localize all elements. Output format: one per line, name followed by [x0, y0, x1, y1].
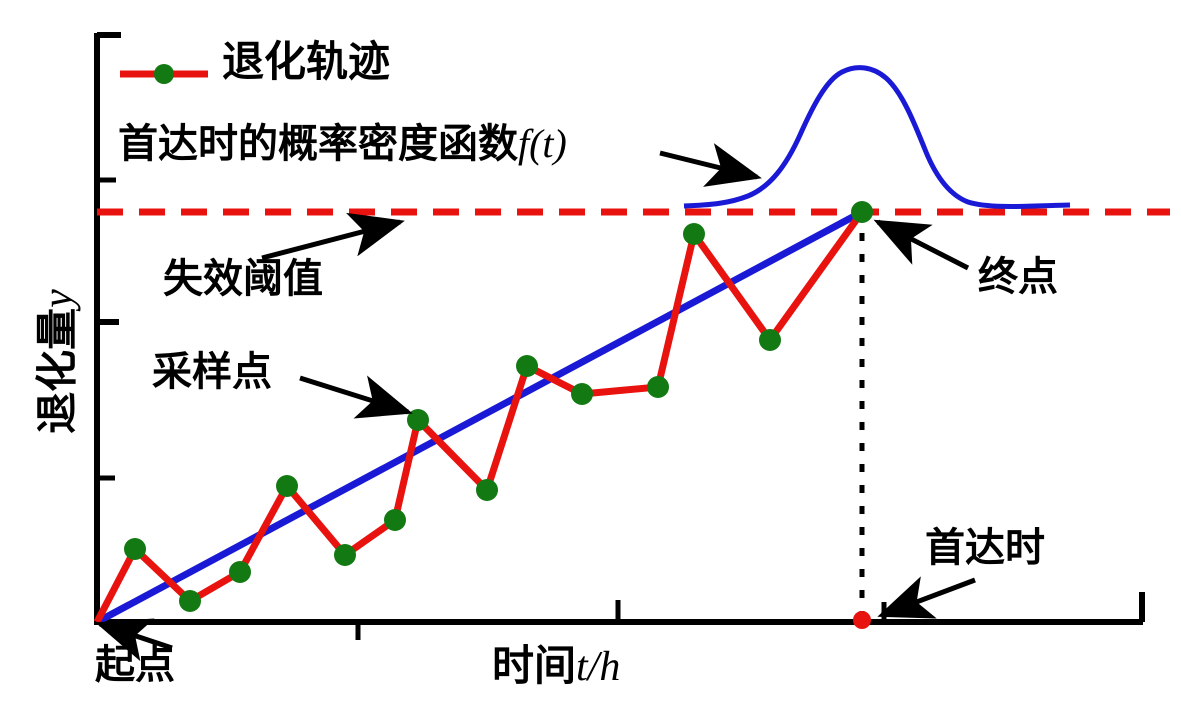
pdf-label-text: 首达时的概率密度函数 — [118, 120, 518, 167]
sample-point — [647, 376, 669, 398]
pdf-label: 首达时的概率密度函数f(t) — [118, 124, 567, 164]
first-hit-arrow-icon — [882, 580, 975, 615]
sample-arrow-icon — [300, 378, 408, 412]
sample-point-label: 采样点 — [152, 352, 272, 392]
sample-point — [516, 355, 538, 377]
sample-point — [407, 409, 429, 431]
sample-point — [683, 223, 705, 245]
legend-swatch — [120, 64, 208, 84]
x-axis-label-cjk: 时间 — [492, 641, 576, 690]
sample-point — [571, 383, 593, 405]
legend-marker-icon — [154, 64, 174, 84]
sample-point — [384, 509, 406, 531]
sample-point — [759, 329, 781, 351]
sample-point — [276, 475, 298, 497]
sample-point — [124, 538, 146, 560]
start-point-label: 起点 — [95, 645, 175, 685]
end-point-marker — [851, 201, 873, 223]
first-hit-time-dot — [853, 611, 871, 629]
legend-label: 退化轨迹 — [222, 41, 390, 83]
y-axis-label-math: y — [36, 289, 82, 308]
y-axis-label: 退化量y — [37, 252, 80, 472]
x-axis-label: 时间t/h — [492, 645, 620, 688]
failure-threshold-label: 失效阈值 — [163, 259, 323, 299]
sample-point — [179, 590, 201, 612]
degradation-trajectory-figure: 退化轨迹 首达时的概率密度函数f(t) 失效阈值 采样点 终点 首达时 起点 时… — [0, 0, 1181, 708]
y-axis-label-cjk: 退化量 — [33, 308, 82, 434]
pdf-arrow-icon — [660, 153, 757, 177]
pdf-label-math: f(t) — [518, 121, 567, 166]
threshold-arrow-icon — [262, 222, 400, 258]
endpoint-arrow-icon — [878, 222, 968, 268]
first-hit-time-label: 首达时 — [925, 528, 1045, 568]
sample-point — [229, 561, 251, 583]
x-axis-label-math: t/h — [576, 644, 620, 690]
sample-point — [334, 544, 356, 566]
end-point-label: 终点 — [978, 257, 1058, 297]
pdf-curve — [684, 68, 1070, 207]
sample-point — [476, 479, 498, 501]
